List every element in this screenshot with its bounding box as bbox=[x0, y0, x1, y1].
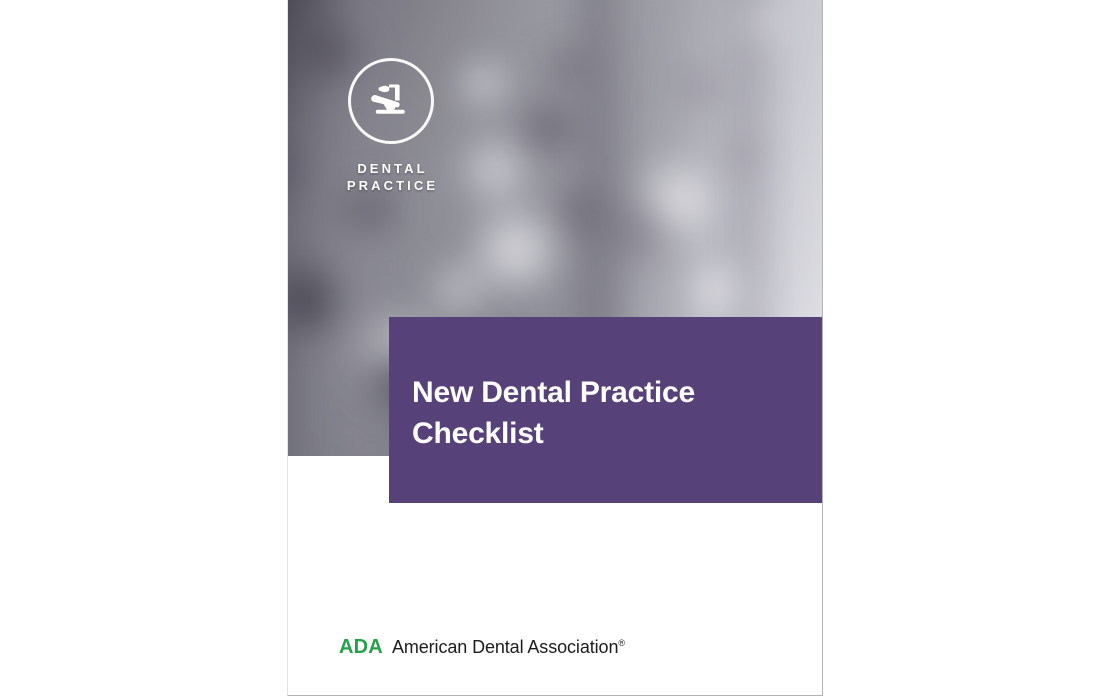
title-banner: New Dental Practice Checklist bbox=[389, 317, 823, 503]
dental-practice-logo: DENTAL PRACTICE bbox=[339, 58, 443, 194]
logo-label-line-2: PRACTICE bbox=[339, 177, 443, 194]
document-cover-page[interactable]: DENTAL PRACTICE New Dental Practice Chec… bbox=[287, 0, 823, 696]
ada-wordmark: ADA bbox=[339, 636, 383, 659]
cover-title-line-1: New Dental Practice bbox=[412, 372, 803, 413]
ada-organization-text: American Dental Association bbox=[392, 637, 618, 657]
cover-title: New Dental Practice Checklist bbox=[412, 372, 803, 454]
dental-chair-icon bbox=[364, 74, 418, 128]
ada-logo: ADA American Dental Association® bbox=[339, 636, 625, 659]
registered-trademark-icon: ® bbox=[618, 638, 625, 648]
logo-label-line-1: DENTAL bbox=[339, 160, 443, 177]
cover-title-line-2: Checklist bbox=[412, 413, 803, 454]
screenshot-canvas: DENTAL PRACTICE New Dental Practice Chec… bbox=[0, 0, 1110, 700]
ada-organization-name: American Dental Association® bbox=[392, 637, 625, 658]
logo-circle-ring bbox=[348, 58, 434, 144]
